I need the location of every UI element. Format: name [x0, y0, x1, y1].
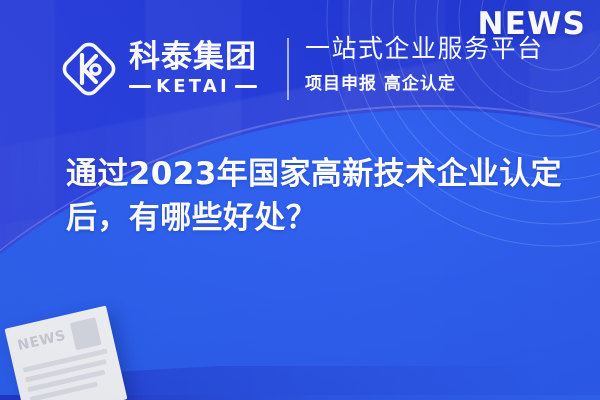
article-headline: 通过2023年国家高新技术企业认定 后，有哪些好处？ [66, 152, 586, 240]
slogan-secondary: 项目申报 高企认定 [305, 69, 544, 94]
slogan-primary: 一站式企业服务平台 [305, 34, 544, 64]
brand-name-chinese: 科泰集团 [129, 41, 257, 74]
logo-rule-left [129, 85, 151, 88]
image-placeholder-icon [70, 317, 102, 350]
vertical-divider [287, 38, 289, 100]
banner-header: NEWS 科泰集团 KETAI [0, 0, 600, 140]
brand-name-english: KETAI [156, 76, 230, 97]
brand-logo-wordmark: 科泰集团 KETAI [129, 41, 257, 98]
newspaper-title: NEWS [15, 325, 67, 355]
ketai-diamond-kp-logo-icon [58, 38, 120, 100]
brand-logo[interactable]: 科泰集团 KETAI [58, 38, 257, 100]
slogan-block: 一站式企业服务平台 项目申报 高企认定 [305, 34, 544, 94]
logo-rule-right [235, 85, 257, 88]
headline-line-2: 后，有哪些好处？ [66, 196, 586, 240]
headline-line-1: 通过2023年国家高新技术企业认定 [66, 152, 586, 196]
brand-name-english-row: KETAI [129, 76, 257, 97]
news-banner-poster: NEWS 科泰集团 KETAI [0, 0, 600, 400]
